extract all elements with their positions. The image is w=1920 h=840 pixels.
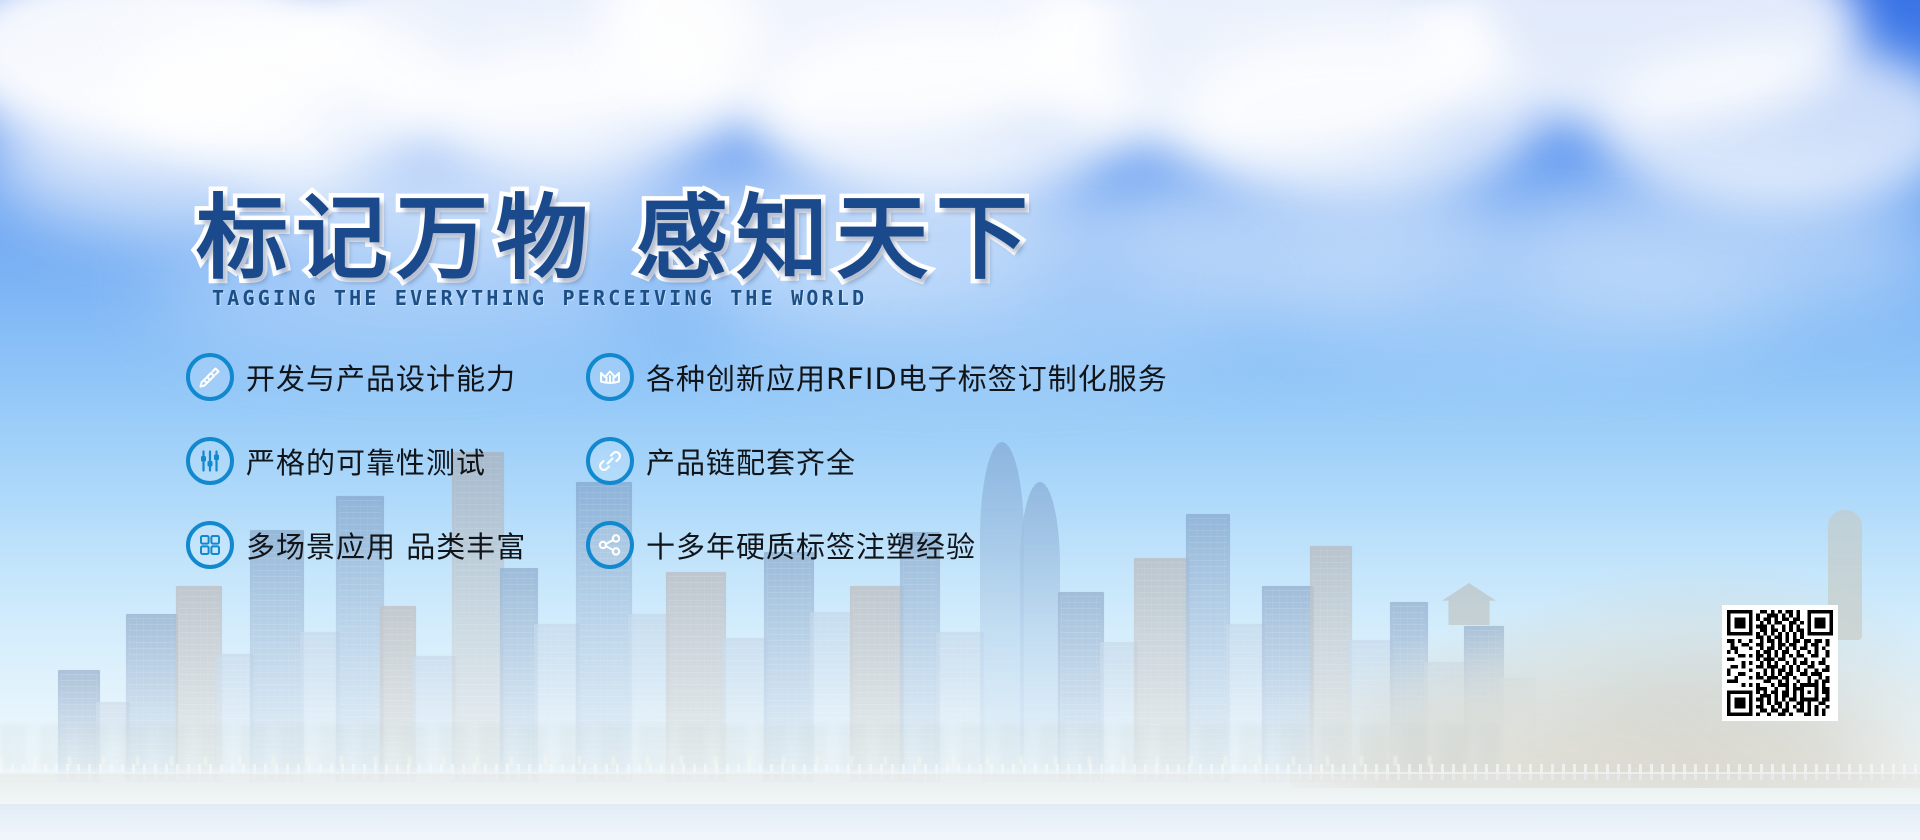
page-subtitle: TAGGING THE EVERYTHING PERCEIVING THE WO…: [212, 286, 867, 310]
qr-code[interactable]: [1722, 605, 1838, 721]
feature-item: 十多年硬质标签注塑经验: [586, 521, 1286, 569]
sliders-icon: [186, 437, 234, 485]
feature-item: 严格的可靠性测试: [186, 437, 586, 485]
feature-item: 产品链配套齐全: [586, 437, 1286, 485]
ruler-pen-icon: [186, 353, 234, 401]
qr-code-image: [1727, 610, 1833, 716]
feature-item: 多场景应用 品类丰富: [186, 521, 586, 569]
promo-banner: 标记万物 感知天下 TAGGING THE EVERYTHING PERCEIV…: [0, 0, 1920, 840]
share-nodes-icon: [586, 521, 634, 569]
feature-label: 各种创新应用RFID电子标签订制化服务: [646, 356, 1168, 398]
feature-label: 严格的可靠性测试: [246, 440, 486, 482]
grid-squares-icon: [186, 521, 234, 569]
feature-label: 产品链配套齐全: [646, 440, 856, 482]
feature-label: 开发与产品设计能力: [246, 356, 516, 398]
feature-item: 开发与产品设计能力: [186, 353, 586, 401]
feature-list: 开发与产品设计能力 各种创新应用RFID电子标签订制化服务: [186, 345, 1306, 577]
feature-label: 十多年硬质标签注塑经验: [646, 524, 976, 566]
page-title: 标记万物 感知天下: [196, 164, 1036, 297]
feature-item: 各种创新应用RFID电子标签订制化服务: [586, 353, 1286, 401]
link-chain-icon: [586, 437, 634, 485]
crown-icon: [586, 353, 634, 401]
feature-label: 多场景应用 品类丰富: [246, 524, 526, 566]
